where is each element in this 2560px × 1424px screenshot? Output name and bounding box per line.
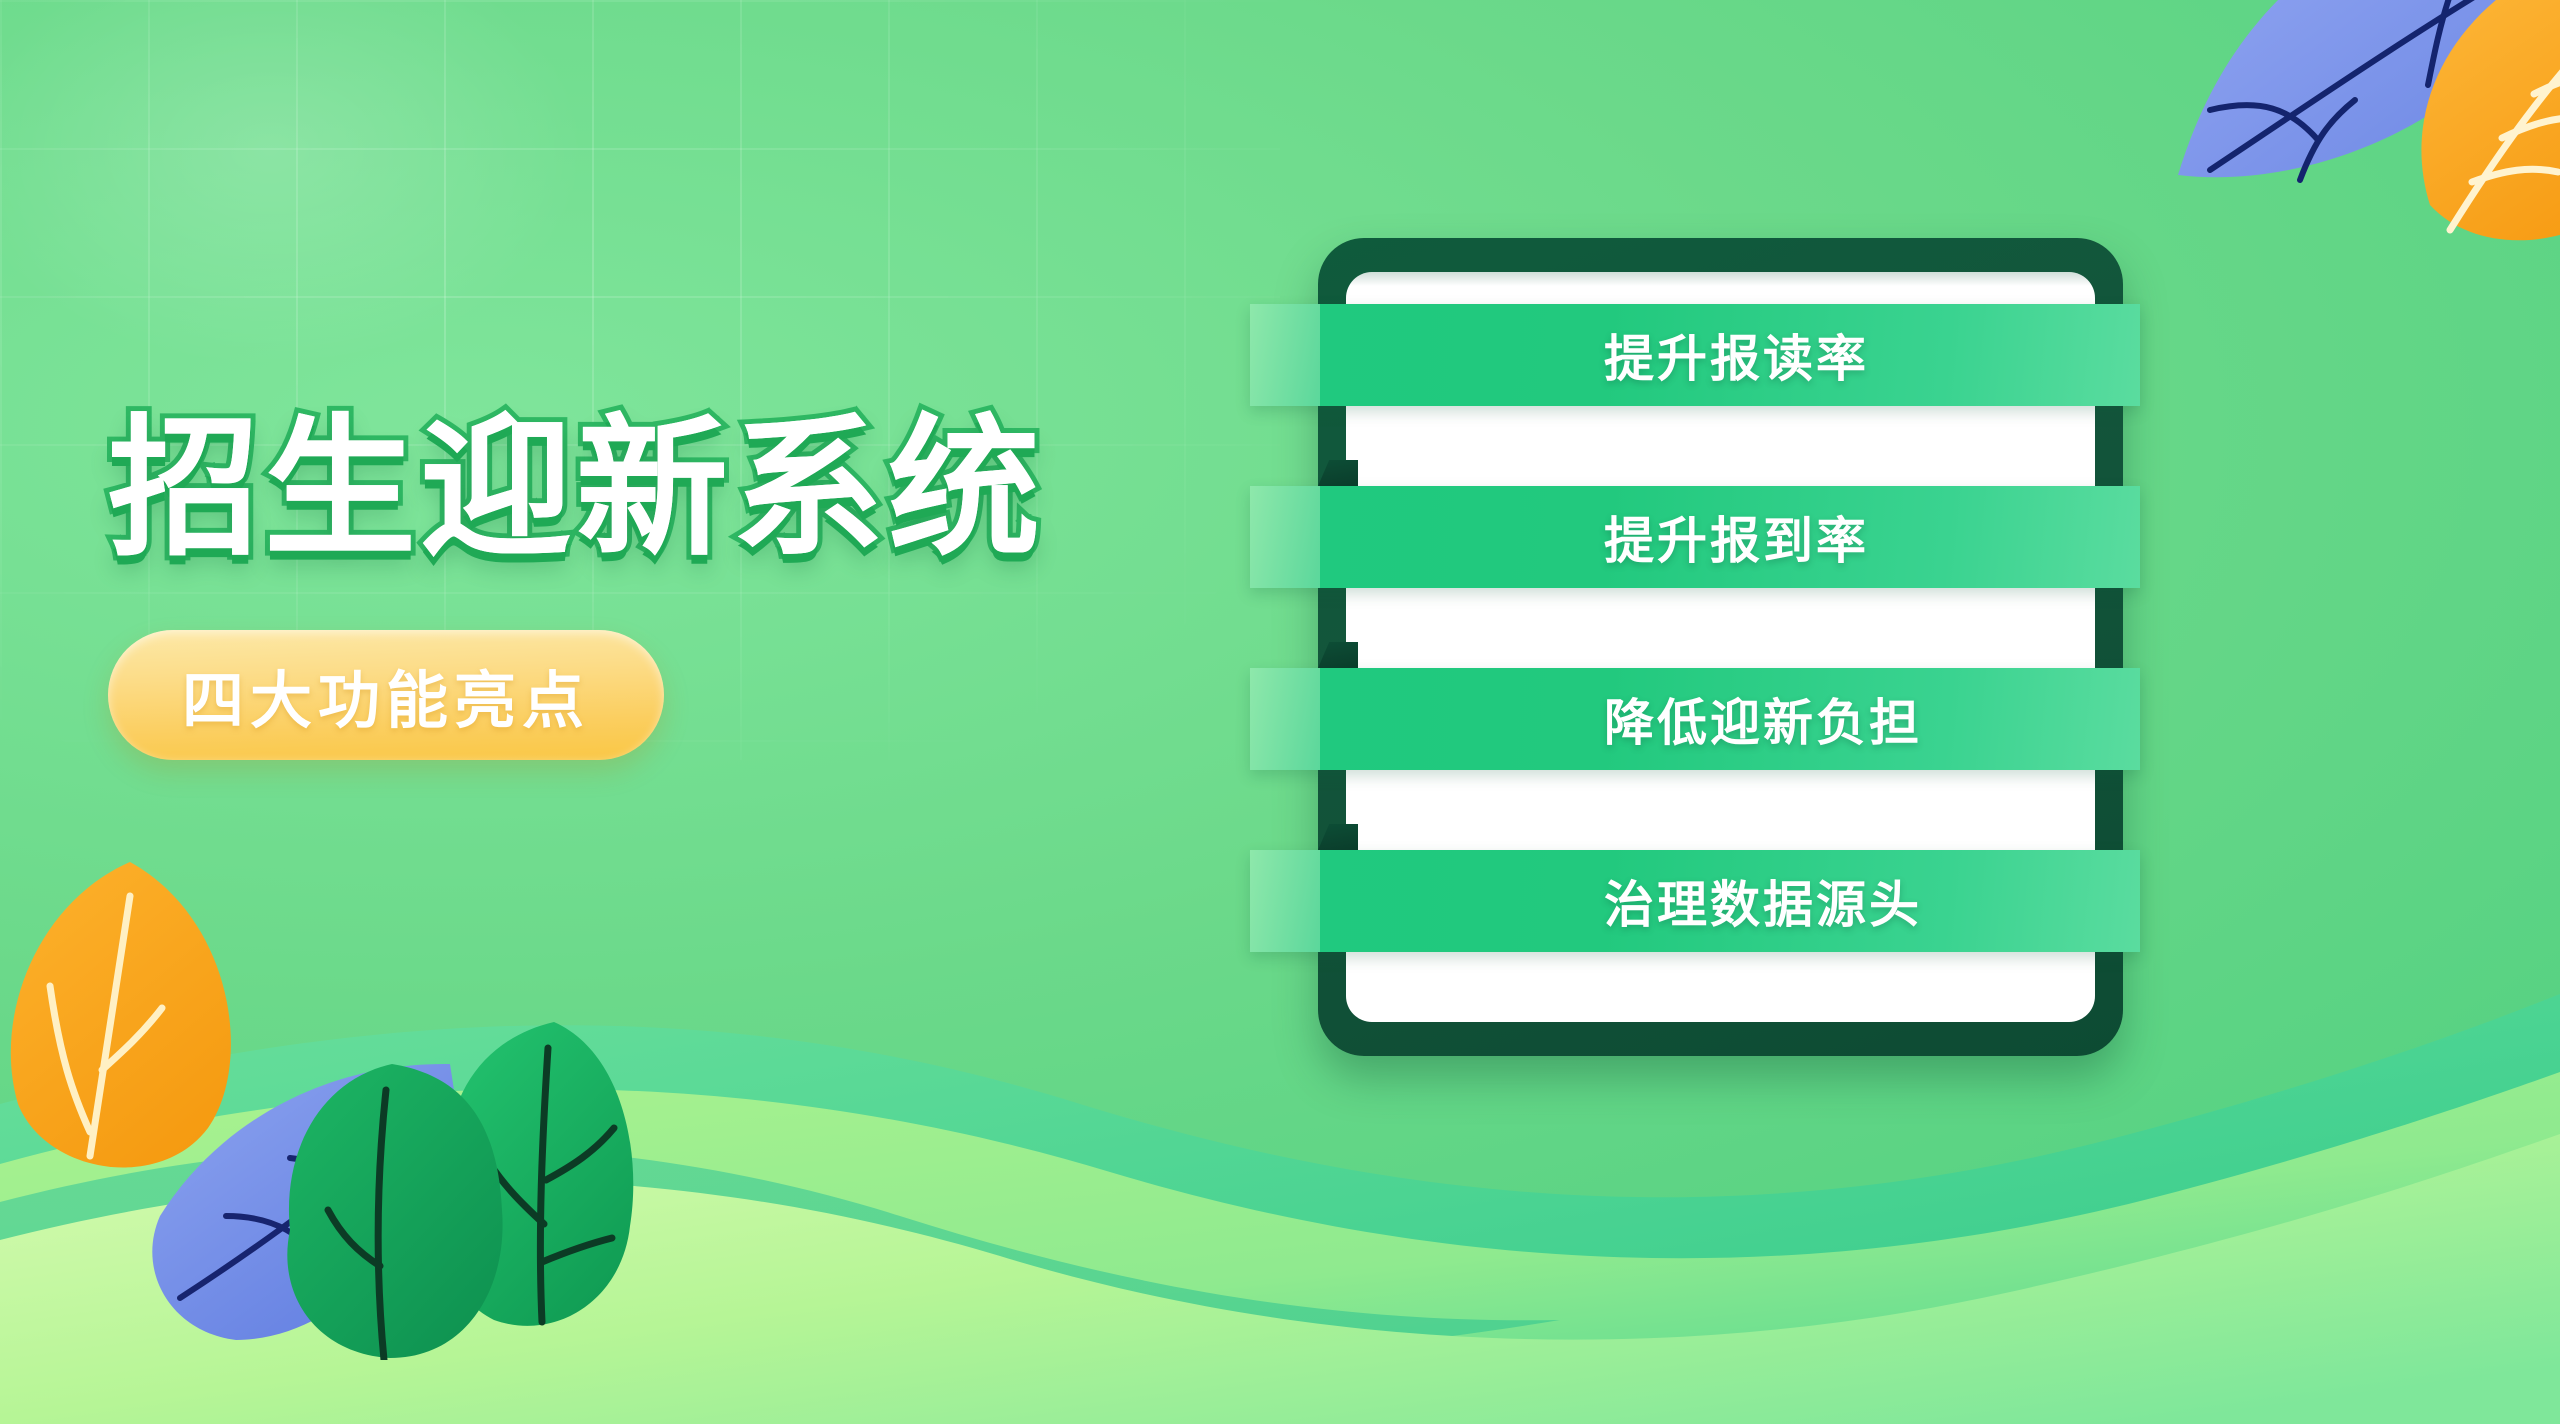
background-glow bbox=[0, 0, 720, 460]
feature-bar[interactable]: 降低迎新负担 bbox=[1250, 668, 2140, 770]
subtitle-pill-label: 四大功能亮点 bbox=[182, 650, 590, 740]
feature-bar-label: 治理数据源头 bbox=[1604, 865, 1922, 937]
orange-leaf-bottom-left-icon bbox=[10, 856, 260, 1186]
green-leaf-bottom-center-icon bbox=[272, 1060, 522, 1360]
feature-bar-label: 提升报到率 bbox=[1604, 501, 1869, 573]
feature-bar-tip bbox=[1250, 850, 1320, 952]
green-leaf-bottom-center-small-icon bbox=[416, 1012, 656, 1342]
feature-bar-tip bbox=[1250, 304, 1320, 406]
headline-block: 招生迎新系统 招生迎新系统 四大功能亮点 bbox=[108, 404, 868, 760]
feature-bar[interactable]: 提升报读率 bbox=[1250, 304, 2140, 406]
feature-bar-label: 降低迎新负担 bbox=[1604, 683, 1922, 755]
blue-leaf-bottom-left-icon bbox=[140, 1040, 470, 1340]
feature-bar[interactable]: 提升报到率 bbox=[1250, 486, 2140, 588]
blue-leaf-top-right-icon bbox=[2150, 0, 2560, 270]
orange-leaf-top-right-icon bbox=[2410, 0, 2560, 300]
feature-bar-tip bbox=[1250, 486, 1320, 588]
feature-bar-tip bbox=[1250, 668, 1320, 770]
feature-bar-label: 提升报读率 bbox=[1604, 319, 1869, 391]
banner-canvas: 招生迎新系统 招生迎新系统 四大功能亮点 提升报读率 提升报到率 降低迎新负担 bbox=[0, 0, 2560, 1424]
subtitle-pill[interactable]: 四大功能亮点 bbox=[108, 630, 664, 760]
page-title: 招生迎新系统 招生迎新系统 bbox=[108, 404, 868, 584]
page-title-text: 招生迎新系统 bbox=[108, 404, 1044, 574]
feature-bar[interactable]: 治理数据源头 bbox=[1250, 850, 2140, 952]
